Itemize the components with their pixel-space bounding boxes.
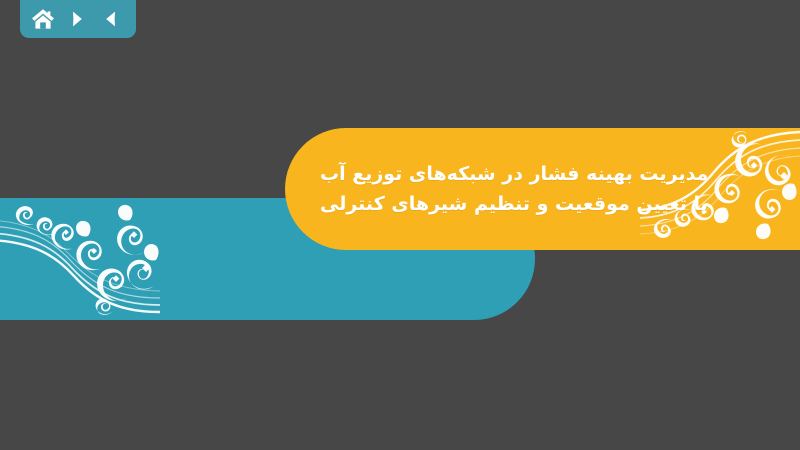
slide-canvas: مدیریت بهینه فشار در شبکه‌های توزیع آب ب… — [0, 0, 800, 450]
next-button[interactable] — [63, 5, 91, 33]
navigation-bar — [20, 0, 136, 38]
title-line-1: مدیریت بهینه فشار در شبکه‌های توزیع آب — [320, 162, 708, 187]
home-button[interactable] — [29, 5, 57, 33]
triangle-left-icon — [101, 9, 121, 29]
triangle-right-icon — [67, 9, 87, 29]
home-icon — [31, 8, 55, 30]
orange-title-banner: مدیریت بهینه فشار در شبکه‌های توزیع آب ب… — [285, 128, 800, 250]
arabesque-islimi-ornament-mirrored-icon — [0, 198, 160, 320]
previous-button[interactable] — [97, 5, 125, 33]
title-line-2: با تعیین موقعیت و تنظیم شیرهای کنترلی — [320, 192, 708, 217]
slide-title: مدیریت بهینه فشار در شبکه‌های توزیع آب ب… — [320, 128, 680, 250]
